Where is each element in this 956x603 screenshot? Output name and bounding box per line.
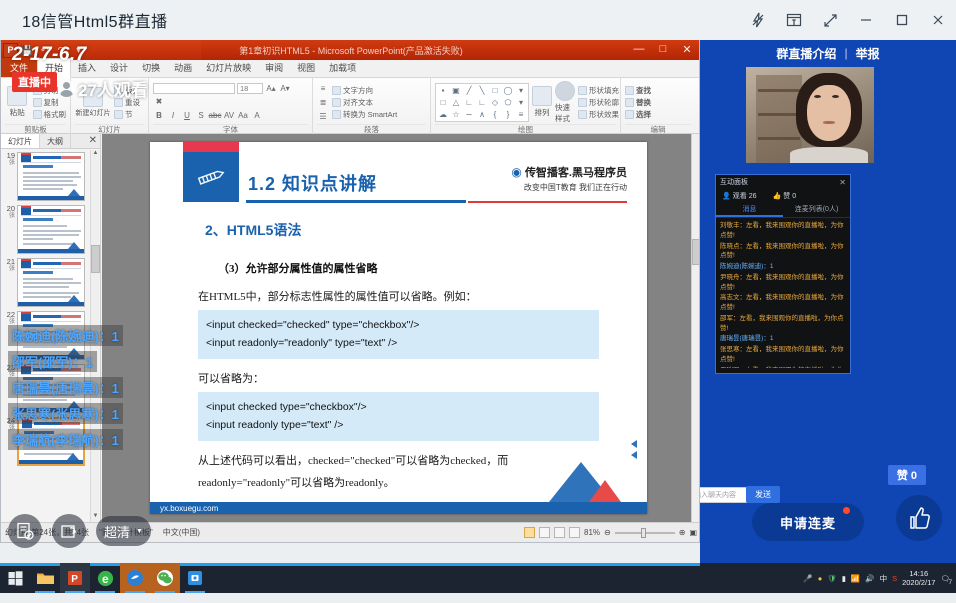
- network-icon[interactable]: 📶: [851, 574, 860, 583]
- font-name-box[interactable]: [153, 83, 235, 94]
- like-label: 赞: [783, 191, 790, 201]
- slide-triangle-decor-red: [589, 480, 621, 502]
- ribbon-tab-animations[interactable]: 动画: [167, 59, 199, 77]
- slide-icon-badge: [183, 152, 239, 202]
- thumbnail-item[interactable]: 20张: [4, 205, 88, 254]
- text-direction-icon: [332, 86, 341, 95]
- shape-cloud-icon[interactable]: ☁: [437, 109, 449, 120]
- shape-outline-label: 形状轮廓: [589, 97, 619, 108]
- section-icon: [114, 110, 123, 119]
- system-tray: 🎤 ● 🛡 ▮ 📶 🔊 中 S 14:16 2020/2/17 🗨7: [803, 563, 956, 593]
- overlay-live-badge: 直播中: [12, 72, 57, 92]
- security-shield-icon[interactable]: 🛡: [827, 574, 837, 583]
- document-check-icon: [15, 521, 35, 541]
- ribbon-group-drawing: ▪▣╱╲□◯▾ □△∟∟◇⬠▾ ☁☆∼∧{}≡ 排列 快速样式 形状填充: [431, 78, 621, 134]
- slide-red-rule: [468, 201, 627, 203]
- ribbon-tab-view[interactable]: 视图: [290, 59, 322, 77]
- chat-message: 邵军：左看，我来围观你的直播啦，为你点赞!: [720, 314, 846, 334]
- ppt-maximize-icon[interactable]: □: [651, 40, 675, 58]
- battery-icon[interactable]: ▮: [842, 574, 846, 583]
- shape-effects-label: 形状效果: [589, 109, 619, 120]
- chat-message: 尹晓舟：左看，我来围观你的直播啦，为你点赞!: [720, 273, 846, 293]
- slide-paragraph-1: 在HTML5中，部分标志性属性的属性值可以省略。例如：: [198, 288, 477, 304]
- person-icon: [58, 80, 75, 97]
- shape-triangle-icon[interactable]: △: [450, 97, 462, 108]
- zoom-out-button[interactable]: ⊖: [604, 528, 611, 537]
- microphone-icon[interactable]: 🎤: [803, 574, 812, 583]
- pin-window-icon[interactable]: [776, 0, 812, 40]
- quality-selector[interactable]: 超清 ▼: [96, 516, 151, 546]
- canvas-scrollbar[interactable]: [691, 134, 700, 522]
- interaction-panel: 互动面板 ✕ 👤 观看 26 👍 赞 0 消息 连麦列表(0人): [715, 174, 851, 374]
- arrange-icon: [532, 86, 552, 106]
- close-icon[interactable]: [920, 0, 956, 40]
- status-language: 中文(中国): [163, 527, 200, 538]
- bullets-icon[interactable]: ≡: [317, 83, 329, 94]
- view-normal-button[interactable]: [524, 527, 535, 538]
- tab-outline[interactable]: 大纲: [40, 134, 71, 148]
- status-zoom-value: 81%: [584, 528, 600, 537]
- canvas-scrollbar-thumb[interactable]: [692, 239, 700, 265]
- paintbrush-icon: [33, 110, 42, 119]
- align-text-button[interactable]: 对齐文本: [332, 97, 397, 108]
- copy-icon: [33, 98, 42, 107]
- slide-code-block-2: <input checked type="checkbox"/> <input …: [198, 392, 599, 441]
- shape-brace-left-icon[interactable]: {: [489, 109, 501, 120]
- shape-gallery[interactable]: ▪▣╱╲□◯▾ □△∟∟◇⬠▾ ☁☆∼∧{}≡: [435, 83, 529, 122]
- qq-icon[interactable]: [120, 563, 150, 593]
- viewer-label: 观看: [733, 191, 747, 201]
- powerpoint-taskbar-icon[interactable]: P: [60, 563, 90, 593]
- chat-message: 陈婉迪(陈婉迪)：1: [720, 262, 846, 272]
- replace-icon: [625, 98, 634, 107]
- notification-center-icon[interactable]: 🗨7: [940, 574, 950, 583]
- pencil-icon: [193, 165, 229, 189]
- font-size-box[interactable]: 18: [237, 83, 263, 94]
- tab-messages[interactable]: 消息: [716, 203, 783, 217]
- replace-button[interactable]: 替换: [625, 97, 651, 108]
- slide-arrow-decor: [631, 440, 637, 459]
- thumbnail-number: 19张: [4, 152, 15, 167]
- shape-effects-button[interactable]: 形状效果: [578, 109, 619, 120]
- volume-icon[interactable]: 🔊: [865, 574, 874, 583]
- file-explorer-icon[interactable]: [30, 563, 60, 593]
- interaction-panel-tabs: 消息 连麦列表(0人): [716, 203, 850, 218]
- copy-label: 复制: [44, 97, 59, 108]
- shape-elbow2-icon[interactable]: ∟: [476, 97, 488, 108]
- update-icon[interactable]: ●: [818, 574, 823, 583]
- brand-mark-icon: ◉: [511, 165, 521, 179]
- character-spacing-button[interactable]: AV: [223, 110, 235, 121]
- shape-line-icon[interactable]: ╱: [463, 85, 475, 96]
- live-stream-panel: 群直播介绍 | 举报 互动面板 ✕ 👤 观看 26: [700, 40, 956, 563]
- ribbon-tab-design[interactable]: 设计: [103, 59, 135, 77]
- increase-font-icon[interactable]: A▴: [265, 83, 277, 94]
- thumbs-up-icon: [906, 505, 932, 531]
- group-label-drawing: 绘图: [435, 124, 616, 134]
- code-line: <input checked type="checkbox"/>: [206, 398, 591, 416]
- ppt-close-icon[interactable]: ✕: [675, 40, 699, 58]
- select-icon: [625, 110, 634, 119]
- taskbar-bottom-strip: [0, 593, 956, 603]
- viewer-icon: 👤: [722, 192, 731, 200]
- apply-mic-label: 申请连麦: [780, 513, 836, 532]
- brand-slogan: 改变中国T教育 我们正在行动: [511, 182, 627, 193]
- text-direction-button[interactable]: 文字方向: [332, 85, 397, 96]
- shape-outline-button[interactable]: 形状轮廓: [578, 97, 619, 108]
- overlay-viewer-count: 27人观看: [58, 76, 148, 101]
- powerpoint-window-title: 第1章初识HTML5 - Microsoft PowerPoint(产品激活失败…: [239, 44, 463, 57]
- format-painter-button[interactable]: 格式刷: [33, 109, 67, 120]
- group-label-paragraph: 段落: [317, 124, 426, 134]
- app-title: 18信管Html5群直播: [22, 8, 168, 32]
- like-badge: 赞 0: [888, 465, 926, 485]
- align-text-label: 对齐文本: [343, 97, 373, 108]
- svg-text:e: e: [102, 572, 109, 586]
- powerpoint-window-controls: — □ ✕: [627, 40, 699, 60]
- chevron-down-icon: ▼: [136, 528, 143, 535]
- slide-footer: yx.boxuegu.com: [150, 502, 647, 514]
- chat-message: 高志文：左看，我来围观你的直播啦，为你点赞!: [720, 293, 846, 313]
- notes-button[interactable]: [8, 514, 42, 548]
- slide-title-underline: [246, 200, 466, 203]
- app-title-bar: 18信管Html5群直播: [0, 0, 956, 40]
- zoom-slider[interactable]: [615, 532, 675, 534]
- thumbnail-item[interactable]: 19张: [4, 152, 88, 201]
- strikethrough-button[interactable]: abc: [209, 110, 221, 121]
- section-label: 节: [125, 109, 133, 120]
- select-button[interactable]: 选择: [625, 109, 651, 120]
- slide-code-block-1: <input checked="checked" type="checkbox"…: [198, 310, 599, 359]
- live-header-separator: |: [844, 46, 847, 60]
- windows-taskbar: P e 🎤 ● 🛡 ▮ 📶: [0, 563, 956, 603]
- text-direction-label: 文字方向: [343, 85, 373, 96]
- live-report-link[interactable]: 举报: [856, 45, 880, 62]
- screenshot-icon[interactable]: [180, 563, 210, 593]
- new-slide-label: 新建幻灯片: [76, 108, 111, 118]
- powerpoint-window: 第1章初识HTML5 - Microsoft PowerPoint(产品激活失败…: [0, 40, 700, 543]
- font-color-button[interactable]: A: [251, 110, 263, 121]
- zoom-in-button[interactable]: ⊕: [679, 528, 686, 537]
- thumbnail-preview[interactable]: [17, 152, 85, 201]
- group-label-clipboard: 剪贴板: [5, 124, 66, 134]
- group-label-font: 字体: [153, 124, 308, 134]
- current-slide[interactable]: 1.2 知识点讲解 ◉ 传智播客.黑马程序员 改变中国T教育 我们正在行动 2、…: [150, 142, 647, 514]
- code-line: <input readonly type="text" />: [206, 416, 591, 434]
- slide-canvas-area: 1.2 知识点讲解 ◉ 传智播客.黑马程序员 改变中国T教育 我们正在行动 2、…: [102, 134, 700, 522]
- scroll-up-arrow[interactable]: ▲: [91, 150, 100, 159]
- chat-message: 刘敬丰：左看，我来围观你的直播啦，为你点赞!: [720, 221, 846, 241]
- screen-root: 18信管Html5群直播 第1章初识HTML5 - Micr: [0, 0, 956, 603]
- like-stat: 👍 赞 0: [773, 191, 797, 201]
- fit-to-window-button[interactable]: ▣: [689, 528, 697, 537]
- section-button[interactable]: 节: [114, 109, 140, 120]
- underline-button[interactable]: U: [181, 110, 193, 121]
- slide-pane-tabs: 幻灯片 大纲 ✕: [1, 134, 100, 149]
- like-badge-label: 赞: [897, 470, 908, 482]
- bolt-icon[interactable]: [740, 0, 776, 40]
- overlay-chat-line: 张思寒(张思寒)：1: [8, 403, 123, 424]
- arrange-label: 排列: [535, 107, 550, 118]
- code-line: <input readonly="readonly" type="text" /…: [206, 334, 591, 352]
- italic-button[interactable]: I: [167, 110, 179, 121]
- ribbon-group-editing: 查找 替换 选择 编辑: [621, 78, 695, 134]
- thumbs-up-icon: 👍: [773, 192, 782, 200]
- window-controls: [740, 0, 956, 40]
- shape-frame-icon[interactable]: ▣: [450, 85, 462, 96]
- shape-oval-icon[interactable]: ◯: [502, 85, 514, 96]
- apply-mic-button[interactable]: 申请连麦: [752, 503, 864, 541]
- decrease-font-icon[interactable]: A▾: [279, 83, 291, 94]
- shape-box-icon[interactable]: □: [437, 97, 449, 108]
- slide-paragraph-3: 从上述代码可以看出，checked="checked"可以省略为checked，…: [198, 452, 508, 468]
- ribbon-tab-transitions[interactable]: 切换: [135, 59, 167, 77]
- shape-more-icon[interactable]: ▾: [515, 85, 527, 96]
- taskbar-clock[interactable]: 14:16 2020/2/17: [902, 569, 935, 588]
- view-reading-button[interactable]: [554, 527, 565, 538]
- interaction-panel-title: 互动面板: [720, 177, 748, 187]
- convert-smartart-label: 转换为 SmartArt: [343, 109, 397, 120]
- clear-formatting-icon[interactable]: ✖: [153, 96, 165, 107]
- ime-language-icon[interactable]: 中: [880, 573, 888, 584]
- taskbar-items: P e: [0, 563, 210, 593]
- chat-message: 张思寒：左看，我来围观你的直播啦，为你点赞!: [720, 345, 846, 365]
- like-badge-count: 0: [911, 470, 917, 482]
- slide-accent-bar: [183, 142, 239, 152]
- thumbnail-number: 21张: [4, 258, 15, 273]
- smartart-icon: [332, 110, 341, 119]
- shape-curve-icon[interactable]: ∼: [463, 109, 475, 120]
- shape-fill-button[interactable]: 形状填充: [578, 85, 619, 96]
- notification-count: 7: [948, 580, 953, 586]
- thumbnail-preview[interactable]: [17, 258, 85, 307]
- thumbnail-preview[interactable]: [17, 205, 85, 254]
- tab-mic-queue[interactable]: 连麦列表(0人): [783, 203, 850, 217]
- chat-send-bar: 输入聊天内容 发送: [700, 481, 810, 503]
- overlay-viewer-text: 27人观看: [78, 76, 148, 101]
- powerpoint-title-bar: 第1章初识HTML5 - Microsoft PowerPoint(产品激活失败…: [1, 40, 700, 60]
- chat-message: 陈晓点：左看，我来围观你的直播啦，为你点赞!: [720, 242, 846, 262]
- thumbnail-number: 20张: [4, 205, 15, 220]
- brand-name: 传智播客.黑马程序员: [525, 167, 627, 179]
- interaction-panel-stats: 👤 观看 26 👍 赞 0: [716, 189, 850, 203]
- replace-label: 替换: [636, 97, 651, 108]
- zoom-slider-knob[interactable]: [641, 528, 646, 538]
- convert-smartart-button[interactable]: 转换为 SmartArt: [332, 109, 397, 120]
- slide-paragraph-4: readonly="readonly"可以省略为readonly。: [198, 474, 395, 490]
- find-label: 查找: [636, 85, 651, 96]
- send-button[interactable]: 发送: [746, 486, 780, 503]
- live-intro-link[interactable]: 群直播介绍: [776, 45, 836, 62]
- ribbon-tab-addins[interactable]: 加载项: [322, 59, 363, 77]
- find-button[interactable]: 查找: [625, 85, 651, 96]
- shape-arrow-icon[interactable]: ╲: [476, 85, 488, 96]
- bold-button[interactable]: B: [153, 110, 165, 121]
- browser-icon[interactable]: e: [90, 563, 120, 593]
- scrollbar-thumb[interactable]: [91, 245, 100, 273]
- format-painter-label: 格式刷: [44, 109, 67, 120]
- arrange-button[interactable]: 排列: [532, 86, 552, 118]
- live-header: 群直播介绍 | 举报: [700, 40, 956, 66]
- slide-heading-2: 2、HTML5语法: [205, 220, 301, 240]
- chat-message: 唐瑞昙(唐瑞昙)：1: [720, 334, 846, 344]
- shape-diamond-icon[interactable]: ◇: [489, 97, 501, 108]
- status-view-controls: 81% ⊖ ⊕ ▣: [524, 527, 697, 538]
- slide-paragraph-2: 可以省略为：: [198, 370, 264, 386]
- clock-time: 14:16: [909, 569, 928, 578]
- shape-fill-label: 形状填充: [589, 85, 619, 96]
- thumbnail-number: 22张: [4, 311, 15, 326]
- slide-brand-logo: ◉ 传智播客.黑马程序员 改变中国T教育 我们正在行动: [511, 164, 627, 193]
- find-icon: [625, 86, 634, 95]
- paste-label: 粘贴: [10, 107, 25, 118]
- overlay-chat-line: 陈婉迪(陈婉迪)：1: [8, 325, 123, 346]
- overlay-player-controls: 超清 ▼: [8, 514, 151, 548]
- sogou-icon[interactable]: S: [892, 574, 897, 583]
- view-slideshow-button[interactable]: [569, 527, 580, 538]
- ribbon-group-font: 18 A▴ A▾ ✖ B I U S abc AV Aa A: [149, 78, 313, 134]
- slide-heading-3: （3）允许部分属性值的属性省略: [218, 260, 378, 276]
- viewer-stat: 👤 观看 26: [722, 191, 757, 201]
- shape-square-icon[interactable]: □: [489, 85, 501, 96]
- share-screen-icon: [59, 521, 79, 541]
- shape-pentagon-icon[interactable]: ⬠: [502, 97, 514, 108]
- ribbon-group-paragraph: ≡ ≣ ☰ 文字方向 对齐文本 转换为 SmartArt 段落: [313, 78, 431, 134]
- like-button[interactable]: [896, 495, 942, 541]
- wechat-icon[interactable]: [150, 563, 180, 593]
- overlay-chat-line: 李瑞航(李瑞航)：1: [8, 429, 123, 450]
- thumbnail-item[interactable]: 21张: [4, 258, 88, 307]
- ribbon-tab-review[interactable]: 审阅: [258, 59, 290, 77]
- change-case-button[interactable]: Aa: [237, 110, 249, 121]
- overlay-chat-line: 唐瑞昙(唐瑞昙)：1: [8, 377, 123, 398]
- ppt-minimize-icon[interactable]: —: [627, 40, 651, 58]
- tab-slides[interactable]: 幻灯片: [1, 134, 40, 148]
- shape-brace-right-icon[interactable]: }: [502, 109, 514, 120]
- share-screen-button[interactable]: [52, 514, 86, 548]
- quick-styles-icon: [555, 81, 575, 101]
- clock-date: 2020/2/17: [902, 578, 935, 587]
- start-button[interactable]: [0, 563, 30, 593]
- align-text-icon: [332, 98, 341, 107]
- shadow-button[interactable]: S: [195, 110, 207, 121]
- view-sorter-button[interactable]: [539, 527, 550, 538]
- presenter-camera-feed: [746, 67, 874, 163]
- shape-expand-icon[interactable]: ≡: [515, 109, 527, 120]
- slide-title: 1.2 知识点讲解: [248, 170, 377, 196]
- align-icon[interactable]: ☰: [317, 111, 329, 122]
- maximize-icon[interactable]: [884, 0, 920, 40]
- overlay-timecode: 2-17-6.7: [12, 44, 87, 66]
- code-line: <input checked="checked" type="checkbox"…: [206, 316, 591, 334]
- svg-text:P: P: [71, 574, 78, 585]
- shape-elbow-icon[interactable]: ∟: [463, 97, 475, 108]
- expand-icon[interactable]: [812, 0, 848, 40]
- quick-styles-label: 快速样式: [555, 102, 575, 124]
- group-label-slides: 幻灯片: [75, 124, 144, 134]
- shape-star-icon[interactable]: ☆: [450, 109, 462, 120]
- shape-arc-icon[interactable]: ∧: [476, 109, 488, 120]
- chat-message: 尹瑞熙：左看，我来围观你的直播啦，为你点赞!: [720, 366, 846, 369]
- interaction-panel-close-icon[interactable]: ✕: [839, 178, 846, 187]
- shape-fill-icon: [578, 86, 587, 95]
- group-label-editing: 编辑: [625, 124, 691, 134]
- interaction-panel-header: 互动面板 ✕: [716, 175, 850, 189]
- viewer-count: 26: [749, 193, 757, 200]
- minimize-icon[interactable]: [848, 0, 884, 40]
- numbering-icon[interactable]: ≣: [317, 97, 329, 108]
- quality-label: 超清: [104, 522, 130, 541]
- shape-rect-icon[interactable]: ▪: [437, 85, 449, 96]
- windows-logo-icon: [8, 571, 23, 586]
- shape-effects-icon: [578, 110, 587, 119]
- ribbon-tab-slideshow[interactable]: 幻灯片放映: [199, 59, 258, 77]
- overlay-chat-line: 邵军(邵军)：1: [8, 351, 97, 372]
- overlay-chat-feed: 陈婉迪(陈婉迪)：1 邵军(邵军)：1 唐瑞昙(唐瑞昙)：1 张思寒(张思寒)：…: [8, 325, 158, 455]
- slide-pane-close-icon[interactable]: ✕: [89, 135, 97, 146]
- notification-dot-icon: [843, 507, 850, 514]
- chat-message-list[interactable]: 刘敬丰：左看，我来围观你的直播啦，为你点赞! 陈晓点：左看，我来围观你的直播啦，…: [716, 218, 850, 368]
- quick-styles-button[interactable]: 快速样式: [555, 81, 575, 124]
- select-label: 选择: [636, 109, 651, 120]
- shape-scroll-icon[interactable]: ▾: [515, 97, 527, 108]
- shape-outline-icon: [578, 98, 587, 107]
- like-count: 0: [792, 193, 796, 200]
